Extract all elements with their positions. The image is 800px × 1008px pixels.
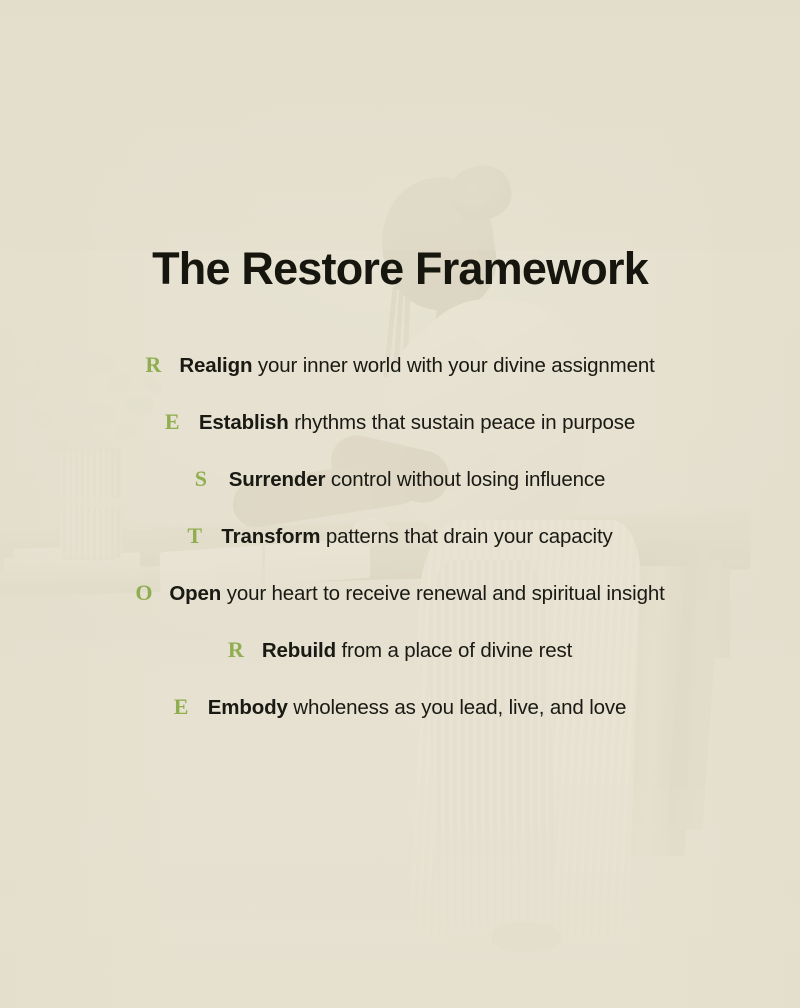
list-item-description: control without losing influence [325,468,605,491]
list-item-description: rhythms that sustain peace in purpose [289,411,635,434]
acronym-letter: T [187,523,221,549]
poster-content: The Restore Framework R Realign your inn… [0,0,800,1008]
list-item-keyword: Open [169,582,221,605]
list-item-keyword: Embody [208,696,288,719]
list-item-text: Realign your inner world with your divin… [179,354,654,378]
list-item-description: your heart to receive renewal and spirit… [221,582,664,605]
list-item: E Establish rhythms that sustain peace i… [0,409,800,466]
acronym-letter: R [145,352,179,378]
list-item-text: Establish rhythms that sustain peace in … [199,411,635,435]
list-item-keyword: Rebuild [262,639,336,662]
list-item-description: from a place of divine rest [336,639,572,662]
list-item-keyword: Transform [221,525,320,548]
list-item-description: wholeness as you lead, live, and love [288,696,626,719]
acronym-letter: O [135,580,169,606]
restore-framework-list: R Realign your inner world with your div… [0,352,800,751]
list-item-keyword: Surrender [229,468,326,491]
acronym-letter: S [195,466,229,492]
list-item-description: your inner world with your divine assign… [252,354,654,377]
poster-canvas: The Restore Framework R Realign your inn… [0,0,800,1008]
list-item: O Open your heart to receive renewal and… [0,580,800,637]
list-item-text: Transform patterns that drain your capac… [221,525,612,549]
page-title: The Restore Framework [0,243,800,295]
list-item-keyword: Establish [199,411,289,434]
list-item: R Rebuild from a place of divine rest [0,637,800,694]
acronym-letter: R [228,637,262,663]
acronym-letter: E [174,694,208,720]
list-item: R Realign your inner world with your div… [0,352,800,409]
acronym-letter: E [165,409,199,435]
list-item-text: Open your heart to receive renewal and s… [169,582,664,606]
list-item: E Embody wholeness as you lead, live, an… [0,694,800,751]
list-item: S Surrender control without losing influ… [0,466,800,523]
list-item-text: Rebuild from a place of divine rest [262,639,572,663]
list-item-text: Embody wholeness as you lead, live, and … [208,696,626,720]
list-item-text: Surrender control without losing influen… [229,468,606,492]
list-item: T Transform patterns that drain your cap… [0,523,800,580]
list-item-description: patterns that drain your capacity [320,525,612,548]
list-item-keyword: Realign [179,354,252,377]
